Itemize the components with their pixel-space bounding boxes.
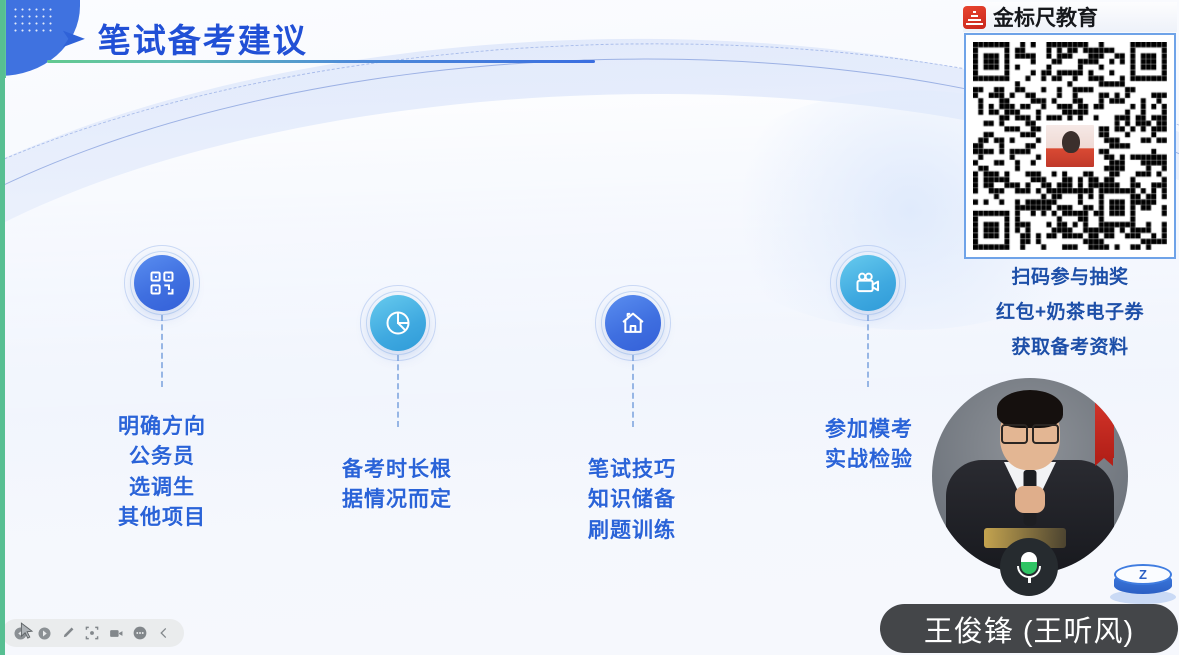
play-slide-button[interactable] — [34, 623, 54, 643]
page-title: ➤ 笔试备考建议 — [62, 14, 308, 62]
label-line: 明确方向 — [81, 412, 243, 442]
timeline-label-3: 笔试技巧 知识储备 刷题训练 — [552, 455, 712, 546]
qr-code-icon — [134, 255, 190, 311]
label-line: 参加模考 — [790, 415, 948, 445]
brand-logo: 金标尺教育 — [963, 2, 1177, 32]
presenter-name-label: 王俊锋 (王听风) — [880, 604, 1178, 653]
brand-banner-decoration — [1095, 400, 1114, 458]
qr-code-panel — [964, 33, 1176, 259]
coin-label: Z — [1114, 564, 1172, 585]
label-line: 据情况而定 — [315, 485, 479, 515]
label-line: 备考时长根 — [315, 455, 479, 485]
timeline-label-4: 参加模考 实战检验 — [790, 415, 948, 476]
timeline-label-1: 明确方向 公务员 选调生 其他项目 — [81, 412, 243, 534]
home-icon — [605, 295, 661, 351]
page-title-text: 笔试备考建议 — [98, 14, 308, 62]
presentation-slide: ➤ 笔试备考建议 明确方向 公务员 选调生 其他项目 — [0, 0, 1179, 655]
label-line: 其他项目 — [81, 503, 243, 533]
collapse-toolbar-button[interactable] — [154, 623, 174, 643]
qr-center-avatar — [1044, 123, 1096, 169]
left-edge-accent — [0, 0, 5, 655]
pie-chart-icon — [370, 295, 426, 351]
glasses-icon — [1001, 424, 1059, 441]
promo-line: 红包+奶茶电子券 — [960, 295, 1179, 330]
microphone-status-badge[interactable] — [1000, 538, 1058, 596]
label-line: 公务员 — [81, 442, 243, 472]
label-line: 笔试技巧 — [552, 455, 712, 485]
dot-grid-icon — [12, 6, 56, 32]
timeline-label-2: 备考时长根 据情况而定 — [315, 455, 479, 516]
brand-name: 金标尺教育 — [993, 2, 1098, 32]
mouse-cursor — [20, 622, 34, 640]
video-camera-icon — [840, 255, 896, 311]
qr-code-image — [973, 42, 1167, 250]
pyramid-ladder-icon — [963, 6, 986, 29]
more-options-button[interactable] — [130, 623, 150, 643]
promo-line: 获取备考资料 — [960, 330, 1179, 365]
laser-pointer-button[interactable] — [82, 623, 102, 643]
promo-text-block: 扫码参与抽奖 红包+奶茶电子券 获取备考资料 — [960, 260, 1179, 365]
coin-decoration: Z — [1108, 560, 1178, 610]
title-underline — [47, 60, 595, 63]
record-video-button[interactable] — [106, 623, 126, 643]
label-line: 刷题训练 — [552, 516, 712, 546]
microphone-icon — [1021, 552, 1037, 582]
annotate-pen-button[interactable] — [58, 623, 78, 643]
title-arrow-icon: ➤ — [59, 25, 86, 51]
label-line: 实战检验 — [790, 445, 948, 475]
label-line: 知识储备 — [552, 485, 712, 515]
promo-line: 扫码参与抽奖 — [960, 260, 1179, 295]
label-line: 选调生 — [81, 473, 243, 503]
